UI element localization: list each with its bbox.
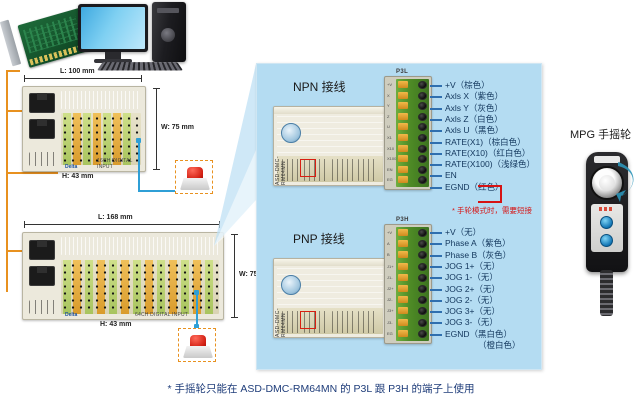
keyboard-icon [97, 62, 183, 70]
rotation-arrow-icon [612, 160, 640, 202]
pin-screw-head [418, 145, 427, 153]
pin-screw-clamp [398, 285, 408, 292]
pc-with-motion-card [0, 0, 200, 72]
connector-p3h-title: P3H [396, 217, 409, 223]
pnp-device-photo: ASD-DMC-RM64MN [273, 258, 387, 338]
pin-screw-head [418, 274, 427, 282]
npn-title: NPN 接线 [293, 78, 346, 95]
pnp-jumper-marker [300, 311, 316, 329]
pin-screw-clamp [398, 134, 408, 141]
connector-pin-row [398, 155, 428, 163]
connector-p3h: +VABJ1+J1-J2+J2-J3+J3-EG [384, 224, 432, 344]
pin-screw-clamp [398, 251, 408, 258]
pendant-faceplate [591, 204, 623, 252]
en-egnd-short-bracket [478, 185, 502, 203]
wire-module2-vertical [196, 292, 198, 328]
pin-callout-line [430, 243, 442, 245]
pin-screw-clamp [398, 81, 408, 88]
p3h-pin-label: JOG 3-（无） [445, 318, 498, 327]
axis-selector-knob[interactable] [600, 216, 613, 229]
p3h-pin-label: JOG 2+（无） [445, 285, 500, 294]
pin-screw-clamp [398, 166, 408, 173]
npn-device-photo: ASD-DMC-RM64MN [273, 106, 387, 186]
pnp-title: PNP 接线 [293, 230, 345, 247]
pin-callout-line [430, 255, 442, 257]
pin-screw-clamp [398, 176, 408, 183]
connector-pin-row [398, 251, 428, 259]
pin-callout-line [430, 108, 442, 110]
pin-screw-head [418, 123, 427, 131]
pin-screw-head [418, 296, 427, 304]
mpg-title: MPG 手摇轮 [570, 126, 631, 142]
dim-label-width-1: W: 75 mm [161, 124, 194, 131]
power-terminal-block [29, 152, 59, 166]
dim-line-width-2 [234, 234, 235, 318]
p3h-pin-label: JOG 1-（无） [445, 273, 498, 282]
pin-callout-line [430, 266, 442, 268]
connector-pin-row [398, 102, 428, 110]
connector-pin-name: J2+ [387, 286, 394, 291]
io-module-large: Delta 64CH DIGITAL INPUT [22, 232, 224, 320]
dim-line-length-2 [24, 224, 220, 225]
pin-screw-head [418, 307, 427, 315]
pin-screw-head [418, 176, 427, 184]
p3h-pin-label: +V（无） [445, 228, 481, 237]
estop-box-1 [175, 160, 213, 194]
connector-pin-row [398, 274, 428, 282]
monitor-screen [81, 7, 145, 49]
status-leds [599, 207, 613, 211]
module-top-connector-strip [61, 237, 219, 255]
module-top-connector-strip [61, 91, 141, 109]
pin-screw-clamp [398, 240, 408, 247]
rj45-port-bottom [29, 266, 55, 286]
connector-pin-name: J2- [387, 297, 393, 302]
pin-screw-head [418, 251, 427, 259]
p3h-pin-label: JOG 2-（无） [445, 296, 498, 305]
pin-callout-line [430, 322, 442, 324]
p3l-pin-label: Axls X（紫色） [445, 92, 503, 101]
p3l-pin-label: RATE(X100)（浅绿色） [445, 160, 535, 169]
pin-callout-line [430, 175, 442, 177]
connector-pin-row [398, 92, 428, 100]
connector-pin-name: J1+ [387, 264, 394, 269]
connector-pin-name: B [387, 252, 390, 257]
power-terminal-block [29, 300, 59, 314]
pc-tower-icon [152, 2, 186, 62]
pin-screw-head [418, 155, 427, 163]
rj45-port-top [29, 240, 55, 260]
rotary-dial [281, 275, 301, 295]
pin-callout-line [430, 187, 442, 189]
wire-node-module1 [136, 138, 141, 143]
pin-screw-head [418, 285, 427, 293]
orange-bus-top-stub [6, 70, 20, 72]
p3l-short-note: * 手轮模式时，需要短接 [452, 205, 532, 216]
p3l-pin-label: Axls Z（白色） [445, 115, 503, 124]
terminal-block-orange [358, 311, 376, 333]
p3l-pin-label: RATE(X1)（棕白色） [445, 138, 526, 147]
pin-screw-head [418, 229, 427, 237]
p3l-pin-label: Axls U（黑色） [445, 126, 504, 135]
pin-callout-line [430, 96, 442, 98]
connector-pin-name: Y [387, 103, 390, 108]
connector-pin-row [398, 81, 428, 89]
terminal-block-green [332, 311, 354, 333]
connector-pin-name: X [387, 93, 390, 98]
pin-callout-line [430, 164, 442, 166]
pin-screw-head [418, 102, 427, 110]
connector-pin-row [398, 240, 428, 248]
pin-callout-line [430, 232, 442, 234]
pin-screw-clamp [398, 274, 408, 281]
wire-module1-vertical [138, 140, 140, 192]
emergency-stop-button-2 [181, 333, 215, 359]
pin-screw-head [418, 263, 427, 271]
device-head [274, 107, 386, 114]
connector-p3l: +VXYZUX1X10X100ENEG [384, 76, 432, 190]
pin-screw-head [418, 92, 427, 100]
p3h-pin-label: EGND（黑白色） [445, 330, 512, 339]
pin-screw-head [418, 134, 427, 142]
wire-node-module2 [194, 290, 199, 295]
pin-screw-clamp [398, 113, 408, 120]
pin-callout-line [430, 300, 442, 302]
estop-base [180, 178, 210, 190]
io-module-small: Delta 16CH DIGITAL INPUT [22, 86, 146, 172]
dim-label-length-2: L: 168 mm [98, 214, 133, 221]
connector-pin-name: +V [387, 82, 392, 87]
pin-screw-clamp [398, 123, 408, 130]
footnote: * 手摇轮只能在 ASD-DMC-RM64MN 的 P3L 跟 P3H 的端子上… [0, 381, 642, 396]
pin-screw-clamp [398, 319, 408, 326]
connector-pin-row [398, 134, 428, 142]
connector-pin-name: J3+ [387, 308, 394, 313]
p3l-pin-label: EN [445, 171, 457, 180]
p3l-pin-label: RATE(X10)（红白色） [445, 149, 530, 158]
emergency-stop-button-1 [178, 165, 212, 191]
pin-callout-line [430, 153, 442, 155]
p3l-pin-label: Axls Y（灰色） [445, 104, 503, 113]
p3h-pin-label: Phase B（灰色） [445, 251, 511, 260]
rj45-port-bottom [29, 119, 55, 139]
pin-screw-head [418, 81, 427, 89]
pin-screw-head [418, 330, 427, 338]
p3h-pin-label: （橙白色） [478, 341, 521, 350]
p3h-pin-label: JOG 1+（无） [445, 262, 500, 271]
pin-screw-clamp [398, 145, 408, 152]
connector-pin-row [398, 113, 428, 121]
dim-line-width-1 [156, 88, 157, 170]
p3h-pin-label: JOG 3+（无） [445, 307, 500, 316]
pin-screw-clamp [398, 102, 408, 109]
device-model-label: ASD-DMC-RM64MN [275, 299, 287, 337]
connector-pin-name: Z [387, 114, 389, 119]
estop-base [183, 346, 213, 358]
connector-pin-row [398, 123, 428, 131]
connector-pin-name: X100 [387, 156, 396, 161]
pin-screw-clamp [398, 229, 408, 236]
pin-screw-clamp [398, 155, 408, 162]
connector-pin-name: X1 [387, 135, 392, 140]
pin-screw-clamp [398, 263, 408, 270]
connector-pin-name: +V [387, 230, 392, 235]
brand-logo: Delta [65, 312, 77, 318]
connector-pin-row [398, 296, 428, 304]
connector-pin-row [398, 229, 428, 237]
rj45-port-top [29, 93, 55, 113]
pin-callout-line [430, 311, 442, 313]
connector-pin-name: EN [387, 167, 393, 172]
connector-pin-name: EG [387, 177, 393, 182]
pin-screw-clamp [398, 92, 408, 99]
connector-pin-name: J3- [387, 320, 393, 325]
monitor-icon [78, 4, 148, 52]
connector-pin-row [398, 319, 428, 327]
p3h-pin-label: Phase A（紫色） [445, 239, 511, 248]
pin-callout-line [430, 142, 442, 144]
device-head [274, 259, 386, 266]
connector-pin-row [398, 166, 428, 174]
connector-pin-row [398, 330, 428, 338]
pin-screw-head [418, 166, 427, 174]
connector-pin-row [398, 307, 428, 315]
connector-pin-name: EG [387, 331, 393, 336]
orange-branch-module1-b [6, 172, 58, 174]
p3l-pin-label: +V（棕色） [445, 81, 490, 90]
pin-callout-line [430, 289, 442, 291]
pin-callout-line [430, 334, 442, 336]
orange-bus-vertical [6, 70, 8, 292]
npn-jumper-marker [300, 159, 316, 177]
connector-pin-row [398, 176, 428, 184]
terminal-screw-dots [61, 115, 141, 163]
pin-screw-clamp [398, 330, 408, 337]
connector-pin-row [398, 145, 428, 153]
dim-label-length-1: L: 100 mm [60, 68, 95, 75]
module-caption: 64CH DIGITAL INPUT [135, 312, 188, 318]
rate-selector-knob[interactable] [600, 234, 613, 247]
pin-screw-head [418, 319, 427, 327]
connector-pin-name: J1- [387, 275, 393, 280]
pendant-cable [600, 270, 613, 316]
pin-callout-line [430, 85, 442, 87]
rotary-dial [281, 123, 301, 143]
pin-screw-head [418, 240, 427, 248]
connector-pin-name: X10 [387, 146, 394, 151]
device-model-label: ASD-DMC-RM64MN [275, 147, 287, 185]
terminal-block-orange [358, 159, 376, 181]
connector-p3l-title: P3L [396, 69, 408, 75]
pin-screw-head [418, 113, 427, 121]
terminal-block-green [332, 159, 354, 181]
pin-callout-line [430, 130, 442, 132]
connector-pin-row [398, 263, 428, 271]
pin-callout-line [430, 277, 442, 279]
dim-label-height-2: H: 43 mm [100, 321, 132, 328]
dim-label-height-1: H: 43 mm [62, 173, 94, 180]
connector-pin-row [398, 285, 428, 293]
pin-screw-clamp [398, 307, 408, 314]
brand-logo: Delta [65, 164, 77, 170]
estop-box-2 [178, 328, 216, 362]
connector-pin-name: A [387, 241, 390, 246]
dim-line-length-1 [24, 78, 142, 79]
pin-callout-line [430, 119, 442, 121]
pin-screw-clamp [398, 296, 408, 303]
connector-pin-name: U [387, 124, 390, 129]
